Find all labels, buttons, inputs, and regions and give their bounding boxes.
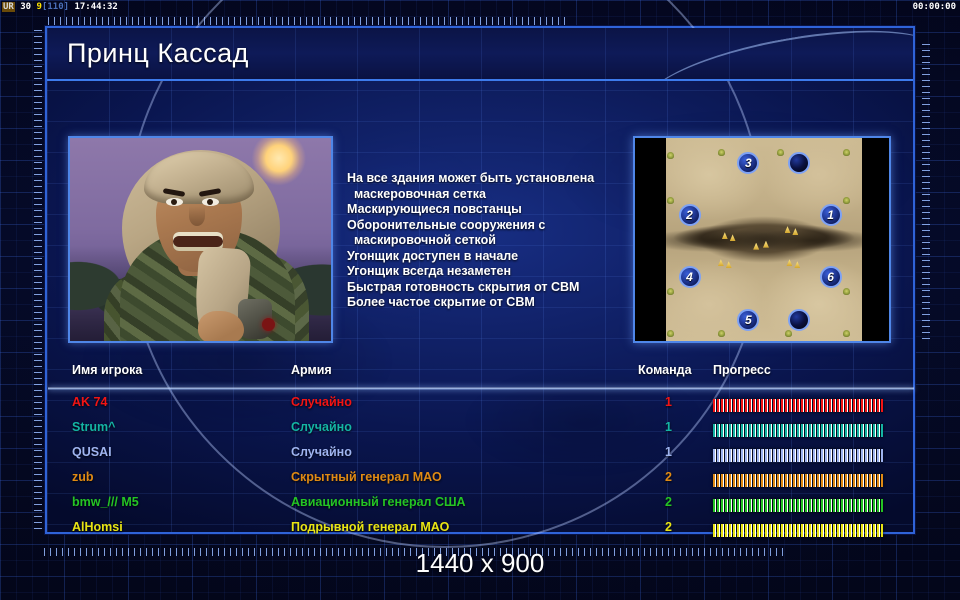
ability-line: Маскирующиеся повстанцы bbox=[347, 202, 647, 218]
player-name: AK 74 bbox=[72, 395, 107, 409]
ability-line: Оборонительные сооружения с bbox=[347, 218, 647, 234]
portrait-nose bbox=[189, 206, 205, 226]
table-row[interactable]: bmw_/// M5Авиационный генерал США2 bbox=[68, 495, 894, 519]
player-team: 1 bbox=[665, 445, 672, 459]
top-status-bar: UR 30 9[110] 17:44:32 00:00:00 bbox=[0, 0, 960, 14]
player-team: 2 bbox=[665, 470, 672, 484]
map-start-position[interactable]: 3 bbox=[737, 152, 759, 174]
progress-bar bbox=[713, 474, 883, 487]
progress-bar bbox=[713, 524, 883, 537]
player-army: Случайно bbox=[291, 420, 352, 434]
progress-bar bbox=[713, 449, 883, 462]
window-titlebar: Принц Кассад bbox=[47, 28, 913, 81]
player-team: 2 bbox=[665, 520, 672, 534]
ability-line: Угонщик доступен в начале bbox=[347, 249, 647, 265]
resolution-label: 1440 x 900 bbox=[0, 548, 960, 579]
table-row[interactable]: AlHomsiПодрывной генерал МАО2 bbox=[68, 520, 894, 544]
map-tree-icon bbox=[777, 149, 784, 156]
map-tree-icon bbox=[667, 197, 674, 204]
column-header-progress: Прогресс bbox=[713, 363, 771, 377]
player-army: Подрывной генерал МАО bbox=[291, 520, 449, 534]
player-name: bmw_/// M5 bbox=[72, 495, 139, 509]
player-progress bbox=[713, 449, 883, 462]
progress-bar bbox=[713, 399, 883, 412]
player-progress bbox=[713, 399, 883, 412]
column-header-team: Команда bbox=[638, 363, 692, 377]
table-row[interactable]: AK 74Случайно1 bbox=[68, 395, 894, 419]
table-row[interactable]: Strum^Случайно1 bbox=[68, 420, 894, 444]
player-army: Случайно bbox=[291, 445, 352, 459]
map-start-position[interactable]: 1 bbox=[820, 204, 842, 226]
map-tree-icon bbox=[785, 330, 792, 337]
player-name: zub bbox=[72, 470, 94, 484]
map-start-position[interactable]: 4 bbox=[679, 266, 701, 288]
map-start-position[interactable]: 2 bbox=[679, 204, 701, 226]
portrait-hand bbox=[198, 311, 244, 343]
player-name: Strum^ bbox=[72, 420, 115, 434]
status-value-1: 30 bbox=[20, 2, 31, 12]
page-title: Принц Кассад bbox=[67, 38, 249, 69]
ability-line: Быстрая готовность скрытия от СВМ bbox=[347, 280, 647, 296]
player-name: AlHomsi bbox=[72, 520, 123, 534]
progress-bar bbox=[713, 424, 883, 437]
status-timer: 00:00:00 bbox=[913, 2, 956, 12]
player-army: Скрытный генерал МАО bbox=[291, 470, 442, 484]
ability-line: Более частое скрытие от СВМ bbox=[347, 295, 647, 311]
player-progress bbox=[713, 474, 883, 487]
map-tree-icon bbox=[667, 288, 674, 295]
status-label: UR bbox=[2, 2, 15, 12]
general-portrait bbox=[68, 136, 333, 343]
player-team: 1 bbox=[665, 420, 672, 434]
map-start-position[interactable]: 6 bbox=[820, 266, 842, 288]
map-tree-icon bbox=[843, 197, 850, 204]
portrait-eye-right bbox=[202, 198, 219, 206]
portrait-eye-left bbox=[166, 198, 183, 206]
ability-line: маскеровочная сетка bbox=[347, 187, 647, 203]
player-team: 1 bbox=[665, 395, 672, 409]
column-header-name: Имя игрока bbox=[72, 363, 142, 377]
status-left-group: UR 30 9[110] 17:44:32 bbox=[2, 2, 118, 12]
map-tree-icon bbox=[718, 149, 725, 156]
map-tree-icon bbox=[667, 330, 674, 337]
player-team: 2 bbox=[665, 495, 672, 509]
player-progress bbox=[713, 499, 883, 512]
map-tree-icon bbox=[843, 330, 850, 337]
status-bracket: [110] bbox=[42, 2, 69, 12]
player-progress bbox=[713, 424, 883, 437]
player-army: Авиационный генерал США bbox=[291, 495, 466, 509]
general-abilities-list: На все здания может быть установленамаск… bbox=[347, 171, 647, 311]
portrait-grenade-light bbox=[262, 318, 275, 331]
column-header-army: Армия bbox=[291, 363, 332, 377]
ability-line: маскировочной сеткой bbox=[347, 233, 647, 249]
player-army: Случайно bbox=[291, 395, 352, 409]
map-ridge bbox=[666, 227, 862, 253]
table-divider bbox=[48, 387, 914, 390]
map-tree-icon bbox=[667, 152, 674, 159]
player-progress bbox=[713, 524, 883, 537]
player-table-header: Имя игрока Армия Команда Прогресс bbox=[68, 363, 894, 385]
status-clock: 17:44:32 bbox=[74, 2, 117, 12]
map-preview: 321465 bbox=[633, 136, 891, 343]
table-row[interactable]: zubСкрытный генерал МАО2 bbox=[68, 470, 894, 494]
progress-bar bbox=[713, 499, 883, 512]
table-row[interactable]: QUSAIСлучайно1 bbox=[68, 445, 894, 469]
ability-line: Угонщик всегда незаметен bbox=[347, 264, 647, 280]
map-start-position[interactable] bbox=[788, 152, 810, 174]
player-name: QUSAI bbox=[72, 445, 112, 459]
lobby-window: Принц Кассад На все здания може bbox=[45, 26, 915, 534]
player-table: Имя игрока Армия Команда Прогресс AK 74С… bbox=[68, 363, 894, 523]
window-content: На все здания может быть установленамаск… bbox=[47, 83, 913, 532]
map-tree-icon bbox=[718, 330, 725, 337]
ability-line: На все здания может быть установлена bbox=[347, 171, 647, 187]
